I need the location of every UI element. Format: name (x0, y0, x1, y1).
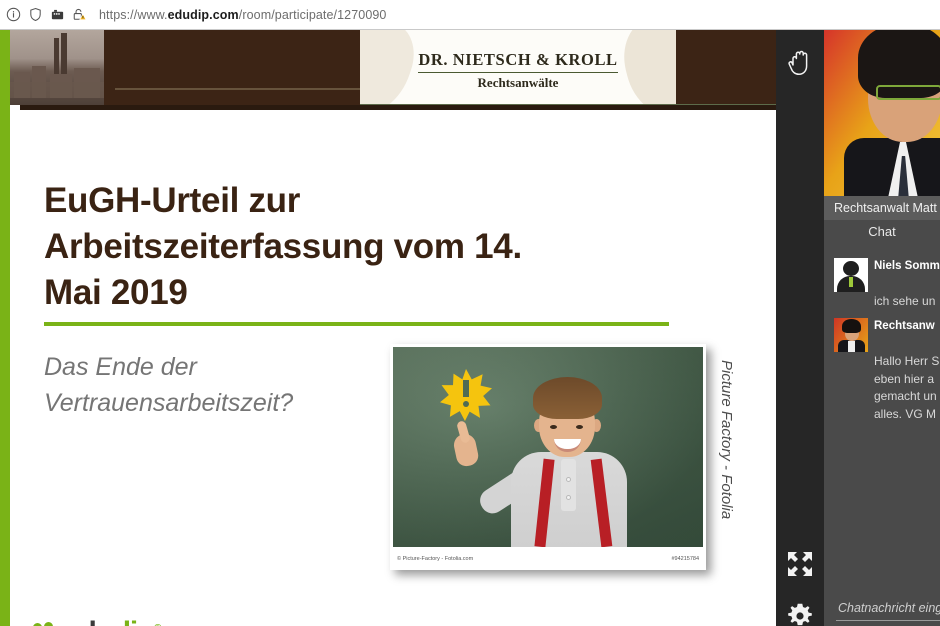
photo-vertical-credit: Picture Factory - Fotolia (718, 360, 735, 519)
slide-header: DR. NIETSCH & KROLL Rechtsanwälte (10, 30, 776, 110)
fullscreen-icon (787, 551, 813, 577)
info-circle-icon[interactable] (6, 7, 21, 22)
presenter-glasses-icon (876, 85, 940, 100)
chat-message-list[interactable]: Niels Somm ich sehe un Rechtsanw Hallo H… (824, 258, 940, 588)
boy-shirt-placket (561, 459, 576, 511)
chat-input-placeholder: Chatnachricht eing (838, 601, 940, 615)
hand-icon (787, 48, 813, 76)
chat-input-underline (836, 620, 940, 621)
boy-eye (576, 425, 583, 429)
gear-icon (787, 603, 813, 626)
boy-hair (533, 377, 602, 419)
shield-icon[interactable] (28, 7, 43, 22)
slide: DR. NIETSCH & KROLL Rechtsanwälte EuGH-U… (0, 30, 776, 626)
stage-toolbar (776, 30, 824, 626)
fullscreen-button[interactable] (776, 540, 824, 588)
chat-message: Rechtsanw Hallo Herr S eben hier a gemac… (824, 318, 940, 431)
boy-shirt-button (566, 477, 571, 482)
photo-credit-left: © Picture-Factory - Fotolia.com (397, 556, 473, 562)
slide-title: EuGH-Urteil zur Arbeitszeiterfassung vom… (44, 178, 564, 317)
slide-subtitle: Das Ende der Vertrauensarbeitszeit? (44, 350, 384, 421)
boy-eye (550, 425, 557, 429)
avatar (834, 318, 868, 352)
firm-name: DR. NIETSCH & KROLL (418, 50, 617, 73)
chat-message-text: Hallo Herr S eben hier a gemacht un alle… (824, 353, 940, 423)
header-inner-rule (115, 88, 360, 90)
header-dark-rule (20, 105, 776, 110)
photo-chalkboard-boy (393, 347, 703, 547)
firm-subtitle: Rechtsanwälte (360, 75, 676, 91)
chat-message-text: ich sehe un (824, 293, 940, 310)
edudip-logo: edudip® (32, 618, 160, 626)
presentation-stage[interactable]: DR. NIETSCH & KROLL Rechtsanwälte EuGH-U… (0, 30, 776, 626)
chat-heading: Chat (824, 224, 940, 239)
chat-message-author: Niels Somm (874, 258, 940, 292)
photo-credit-id: #94215784 (671, 556, 699, 562)
raise-hand-button[interactable] (776, 38, 824, 86)
avatar (834, 258, 868, 292)
edudip-wordmark: edudip® (63, 618, 160, 626)
browser-url-bar[interactable]: https://www.edudip.com/room/participate/… (0, 0, 940, 30)
lock-warning-icon[interactable] (72, 7, 87, 22)
chat-input[interactable]: Chatnachricht eing (824, 596, 940, 626)
settings-button[interactable] (776, 592, 824, 626)
boy-shirt-button (566, 495, 571, 500)
brand-dip: dip (113, 616, 154, 626)
url-text[interactable]: https://www.edudip.com/room/participate/… (99, 8, 386, 22)
slide-photo-card: © Picture-Factory - Fotolia.com #9421578… (390, 344, 706, 570)
clover-icon (32, 621, 60, 626)
slide-green-sidebar (0, 30, 10, 626)
app-root: https://www.edudip.com/room/participate/… (0, 0, 940, 626)
presenter-name: Rechtsanwalt Matt (834, 201, 937, 215)
header-logo-panel: DR. NIETSCH & KROLL Rechtsanwälte (360, 30, 676, 105)
firm-logo: DR. NIETSCH & KROLL Rechtsanwälte (360, 50, 676, 91)
chat-message-author: Rechtsanw (874, 318, 935, 352)
photo-caption-bar: © Picture-Factory - Fotolia.com #9421578… (393, 547, 703, 570)
title-underline (44, 322, 669, 326)
header-city-photo (10, 30, 104, 105)
presenter-webcam[interactable] (824, 30, 940, 198)
chat-message: Niels Somm ich sehe un (824, 258, 940, 318)
brand-edu: edu (63, 616, 113, 626)
presenter-nameplate: Rechtsanwalt Matt (824, 196, 940, 220)
camera-icon[interactable] (50, 7, 65, 22)
